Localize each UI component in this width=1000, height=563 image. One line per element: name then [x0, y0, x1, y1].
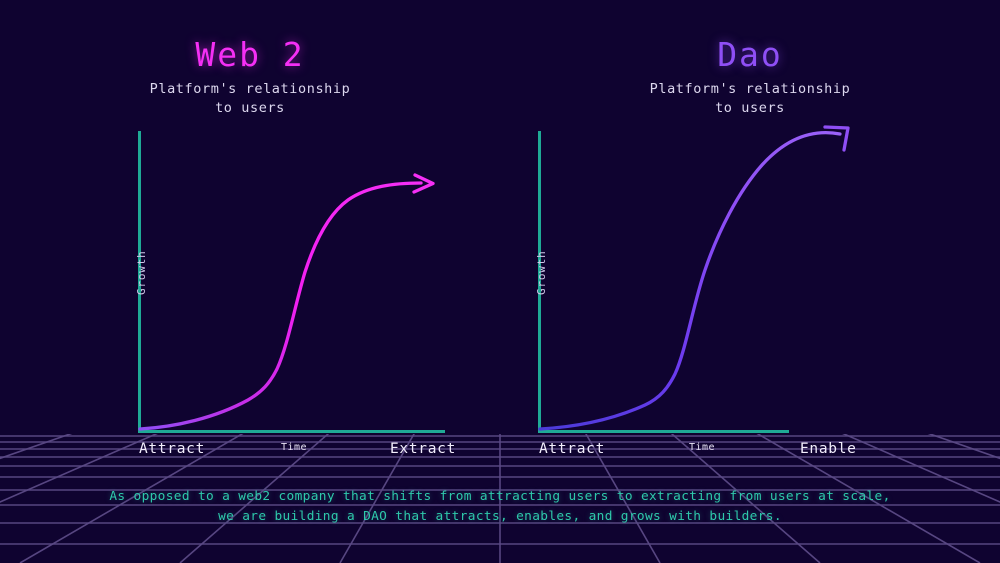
slide-caption: As opposed to a web2 company that shifts… [0, 487, 1000, 527]
panel-dao: Dao Platform's relationship to users [500, 0, 1000, 563]
growth-curve-dao [540, 133, 840, 429]
x-axis-mid-label-web2: Time [281, 442, 307, 453]
y-axis-label-dao: Growth [535, 250, 548, 295]
growth-curve-web2 [140, 183, 421, 429]
x-axis-mid-label-dao: Time [689, 442, 715, 453]
x-axis-end-label-web2: Extract [390, 441, 456, 457]
x-axis-start-label-dao: Attract [539, 441, 605, 457]
chart-plot-dao [500, 0, 1000, 470]
x-axis-end-label-dao: Enable [800, 441, 857, 457]
y-axis-label-web2: Growth [135, 250, 148, 295]
curve-arrowhead-dao [825, 127, 848, 150]
x-axis-start-label-web2: Attract [139, 441, 205, 457]
chart-plot-web2 [0, 0, 500, 470]
slide-canvas: Web 2 Platform's relationship to users [0, 0, 1000, 563]
panel-web2: Web 2 Platform's relationship to users [0, 0, 500, 563]
